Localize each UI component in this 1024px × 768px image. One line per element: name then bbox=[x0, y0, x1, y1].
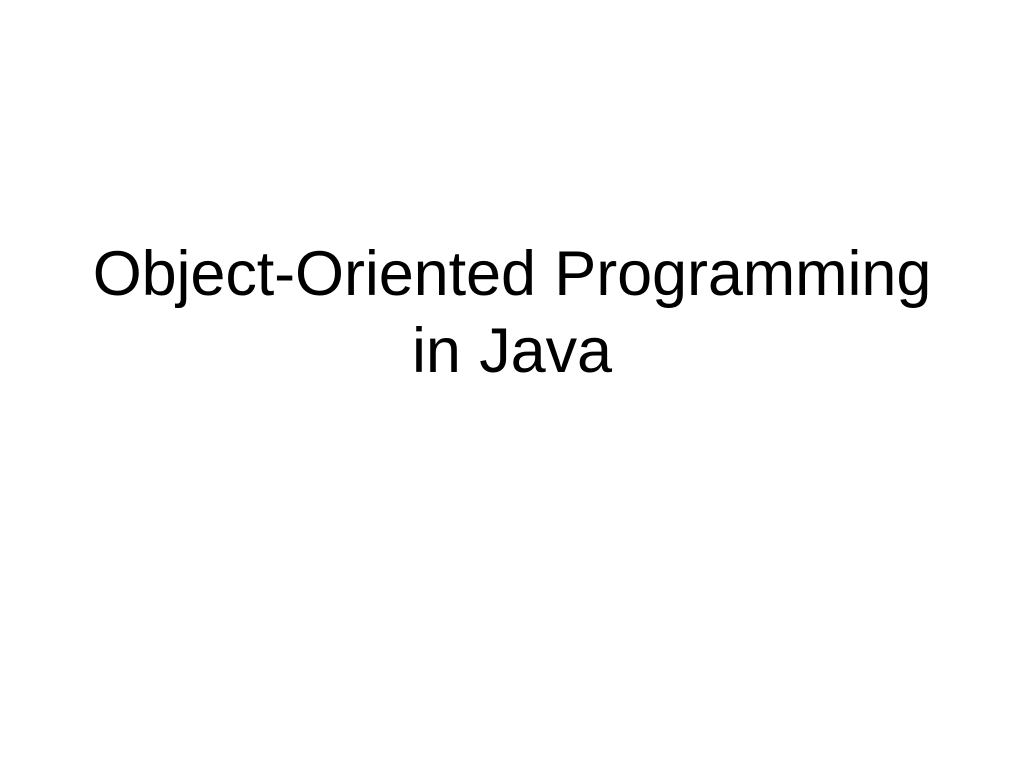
slide-title-block[interactable]: Object-Oriented Programming in Java bbox=[62, 236, 962, 390]
slide-canvas: Object-Oriented Programming in Java bbox=[0, 0, 1024, 768]
page-title: Object-Oriented Programming in Java bbox=[62, 236, 962, 390]
